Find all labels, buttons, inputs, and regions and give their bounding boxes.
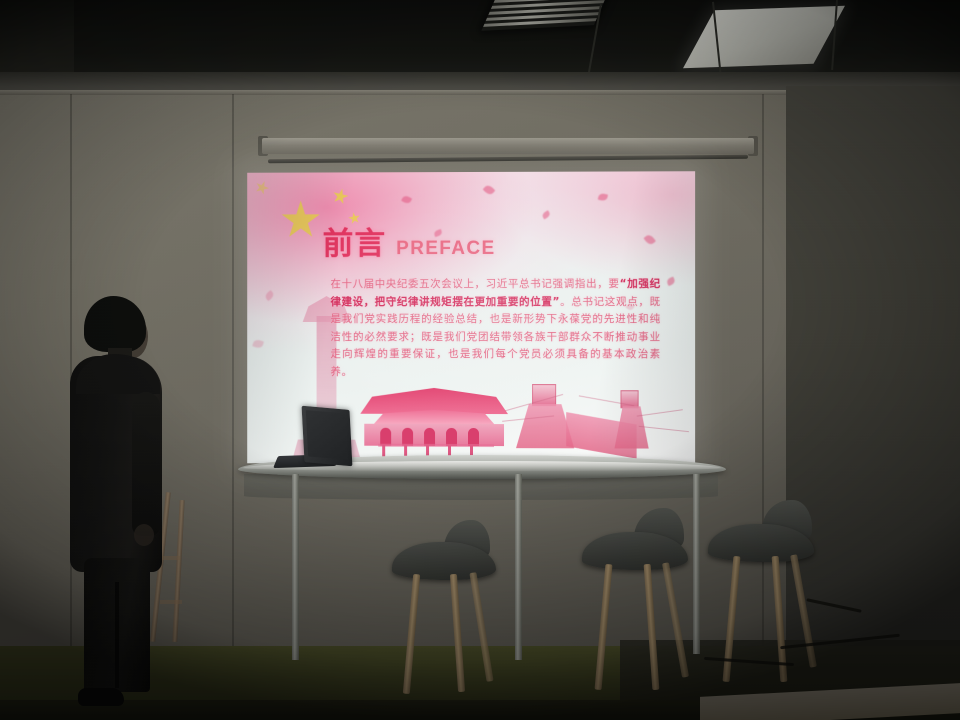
slide-body-text: 在十八届中央纪委五次会议上，习近平总书记强调指出，要“加强纪律建设，把守纪律讲规… — [330, 276, 660, 381]
laptop-screen[interactable] — [306, 410, 348, 460]
petal-icon — [643, 233, 656, 246]
slide-body-lead: 在十八届中央纪委五次会议上，习近平总书记强调指出，要 — [330, 278, 619, 290]
bar-stool-1[interactable] — [392, 520, 512, 696]
petal-icon — [252, 339, 264, 350]
person-hair — [84, 296, 146, 352]
stool-leg — [403, 574, 420, 694]
stool-leg — [469, 572, 493, 682]
stool-leg — [644, 564, 660, 690]
bar-stool-2[interactable] — [578, 508, 704, 698]
stool-leg — [450, 574, 465, 692]
petal-icon — [666, 276, 676, 286]
flag-star-small-icon — [253, 179, 271, 197]
counter-leg — [515, 474, 522, 660]
stool-leg — [662, 562, 689, 677]
petal-icon — [264, 290, 275, 301]
person-shoe — [78, 688, 124, 706]
person-hand — [134, 524, 154, 546]
slide-title: 前言 PREFACE — [323, 218, 496, 263]
great-wall-illustration — [496, 378, 695, 465]
slide-title-english: PREFACE — [396, 238, 495, 260]
laptop[interactable] — [302, 406, 353, 467]
stool-leg — [790, 554, 817, 667]
wall-panel-seam — [232, 94, 234, 654]
petal-icon — [483, 184, 496, 197]
flag-star-small-icon — [331, 187, 350, 206]
stool-leg — [595, 564, 613, 690]
flag-star-large-icon — [281, 200, 321, 240]
counter-leg — [292, 474, 299, 660]
petal-icon — [401, 194, 412, 204]
stool-leg — [723, 556, 741, 682]
person-leg-gap — [115, 582, 119, 688]
person-arm — [132, 392, 160, 536]
room-photo-scene: 前言 PREFACE 在十八届中央纪委五次会议上，习近平总书记强调指出，要“加强… — [0, 0, 960, 720]
wall-top-trim — [0, 90, 800, 95]
slide-title-chinese: 前言 — [323, 218, 387, 263]
projector-screen-housing — [262, 138, 754, 154]
petal-icon — [541, 210, 551, 219]
standing-presenter — [58, 296, 184, 720]
petal-icon — [598, 193, 608, 202]
